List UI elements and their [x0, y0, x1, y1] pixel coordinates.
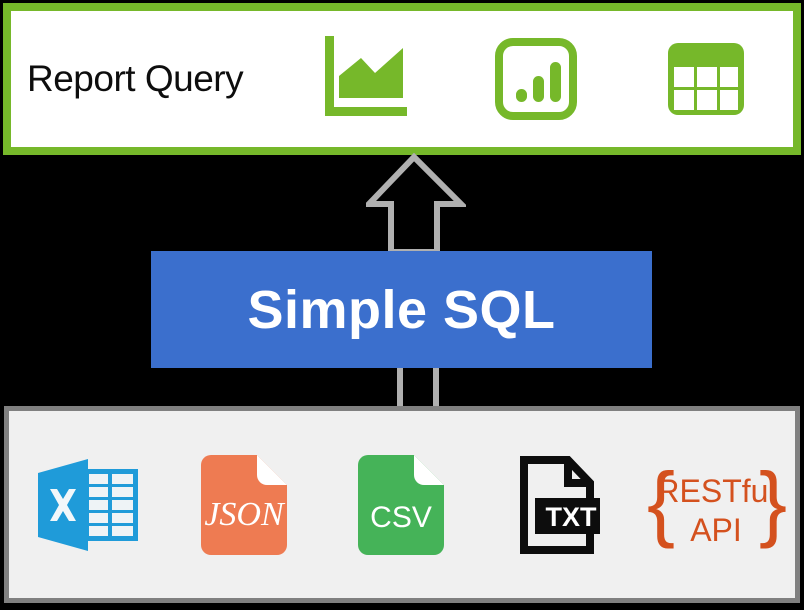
source-item-json[interactable]: JSON	[170, 445, 320, 565]
up-arrow	[366, 152, 466, 254]
report-icon-area-chart[interactable]	[281, 36, 451, 122]
json-file-icon: JSON	[201, 453, 289, 557]
restful-label-line2: API	[691, 512, 743, 548]
report-panel: Report Query	[3, 3, 801, 155]
table-grid-icon	[665, 40, 747, 118]
report-icon-table[interactable]	[621, 40, 791, 118]
source-item-restful-api[interactable]: { } RESTful API	[641, 445, 791, 565]
report-icon-bar-chart[interactable]	[451, 38, 621, 120]
csv-file-label: CSV	[370, 501, 432, 534]
bar-chart-icon	[495, 38, 577, 120]
simple-sql-box[interactable]: Simple SQL	[151, 251, 652, 368]
source-item-csv[interactable]: CSV	[327, 445, 477, 565]
restful-api-icon: { } RESTful API	[641, 457, 791, 553]
up-arrow-icon	[366, 152, 466, 254]
source-item-txt[interactable]: TXT	[484, 445, 634, 565]
arrow-shaft-right	[433, 368, 439, 410]
report-icon-group	[281, 11, 791, 147]
txt-file-label: TXT	[546, 502, 598, 532]
txt-file-icon: TXT	[518, 456, 600, 554]
restful-label-line1: RESTful	[657, 473, 776, 509]
area-chart-icon	[323, 36, 409, 122]
source-item-excel[interactable]	[13, 445, 163, 565]
data-sources-panel: JSON CSV TXT { } RESTful	[4, 406, 800, 603]
csv-file-icon: CSV	[358, 453, 446, 557]
diagram-canvas: Report Query	[0, 0, 804, 610]
simple-sql-label: Simple SQL	[247, 279, 555, 341]
json-file-label: JSON	[204, 496, 286, 533]
arrow-shaft-left	[397, 368, 403, 410]
page-title: Report Query	[27, 58, 243, 100]
excel-file-icon	[36, 455, 140, 555]
